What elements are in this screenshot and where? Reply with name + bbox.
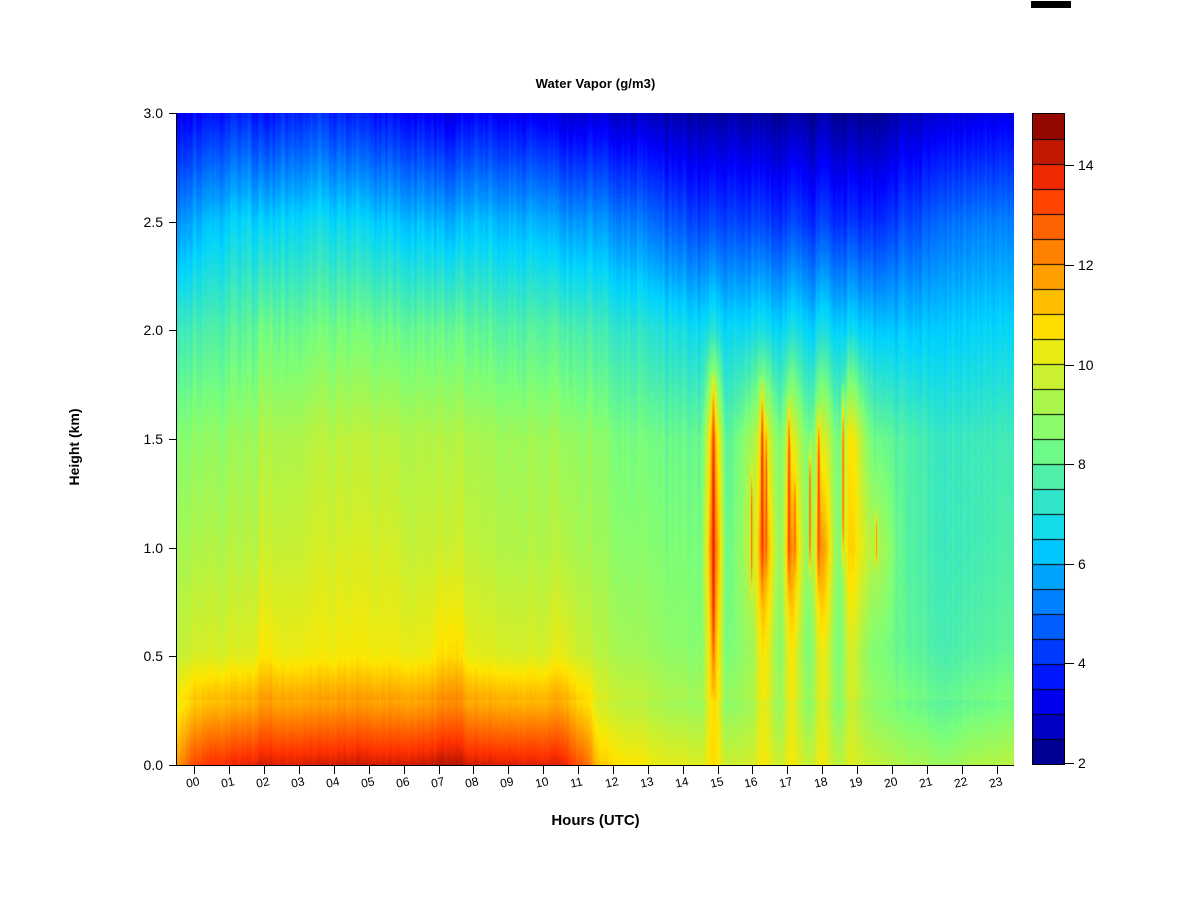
x-axis-tick-label: 09 [499,775,515,790]
colorbar-canvas [1033,114,1064,764]
y-axis-tick-mark [169,113,177,114]
x-axis-tick-mark [683,766,684,774]
colorbar-tick-mark [1065,663,1074,664]
x-axis-tick-mark [613,766,614,774]
y-axis-tick-mark [169,656,177,657]
colorbar-legend [1032,113,1065,765]
x-axis-tick-mark [369,766,370,774]
colorbar-tick-mark [1065,464,1074,465]
x-axis-tick-mark [229,766,230,774]
colorbar-tick-mark [1065,365,1074,366]
colorbar-tick-label: 2 [1078,756,1086,770]
x-axis-tick-label: 19 [848,775,864,790]
y-axis-tick-mark [169,765,177,766]
x-axis-tick-mark [648,766,649,774]
colorbar-tick-label: 10 [1078,358,1094,372]
x-axis-tick-label: 00 [185,775,201,790]
colorbar-tick-mark [1065,763,1074,764]
x-axis-tick-mark [857,766,858,774]
x-axis-tick-mark [299,766,300,774]
x-axis-tick-mark [752,766,753,774]
x-axis-tick-mark [439,766,440,774]
x-axis-tick-mark [404,766,405,774]
y-axis-tick-label: 0.0 [144,758,163,772]
colorbar-tick-mark [1065,265,1074,266]
heatmap-plot-panel [177,113,1014,765]
x-axis-tick-mark [962,766,963,774]
colorbar-tick-mark [1065,564,1074,565]
x-axis-tick-mark [543,766,544,774]
x-axis-tick-label: 06 [395,775,411,790]
x-axis-tick-mark [822,766,823,774]
x-axis-tick-mark [927,766,928,774]
x-axis-line [176,765,1014,766]
y-axis-tick-label: 3.0 [144,106,163,120]
y-axis-tick-mark [169,439,177,440]
y-axis-tick-label: 1.0 [144,541,163,555]
x-axis-tick-mark [194,766,195,774]
x-axis-tick-mark [264,766,265,774]
x-axis-tick-mark [997,766,998,774]
x-axis-tick-label: 07 [430,775,446,790]
x-axis-tick-label: 02 [255,775,271,790]
x-axis-tick-label: 08 [464,775,480,790]
x-axis-tick-label: 18 [813,775,829,790]
colorbar-tick-label: 14 [1078,158,1094,172]
colorbar-tick-label: 6 [1078,557,1086,571]
x-axis-tick-label: 03 [290,775,306,790]
x-axis-tick-mark [334,766,335,774]
x-axis-tick-label: 13 [639,775,655,790]
x-axis-tick-label: 20 [883,775,899,790]
x-axis-tick-label: 12 [604,775,620,790]
colorbar-tick-mark [1065,165,1074,166]
y-axis-tick-mark [169,330,177,331]
y-axis-tick-label: 2.5 [144,215,163,229]
x-axis-tick-mark [578,766,579,774]
x-axis-tick-label: 17 [778,775,794,790]
x-axis-tick-label: 21 [918,775,934,790]
x-axis-tick-mark [892,766,893,774]
x-axis-tick-mark [787,766,788,774]
top-right-black-bar-artifact [1031,1,1071,8]
x-axis-tick-mark [508,766,509,774]
colorbar-tick-label: 4 [1078,656,1086,670]
y-axis-tick-label: 2.0 [144,323,163,337]
y-axis-tick-label: 1.5 [144,432,163,446]
y-axis-tick-mark [169,222,177,223]
heatmap-canvas [177,113,1014,765]
colorbar-tick-label: 8 [1078,457,1086,471]
x-axis-tick-mark [473,766,474,774]
x-axis-tick-label: 05 [360,775,376,790]
x-axis-tick-label: 14 [674,775,690,790]
x-axis-tick-label: 23 [988,775,1004,790]
y-axis-tick-label: 0.5 [144,649,163,663]
colorbar-tick-label: 12 [1078,258,1094,272]
x-axis-tick-label: 01 [220,775,236,790]
x-axis-title: Hours (UTC) [177,812,1014,829]
x-axis-tick-label: 10 [534,775,550,790]
x-axis-tick-label: 04 [325,775,341,790]
y-axis-title: Height (km) [66,367,82,527]
x-axis-tick-label: 16 [743,775,759,790]
page-title: Water Vapor (g/m3) [177,76,1014,91]
x-axis-tick-label: 15 [709,775,725,790]
x-axis-tick-label: 11 [569,775,584,789]
y-axis-tick-mark [169,548,177,549]
x-axis-tick-mark [718,766,719,774]
x-axis-tick-label: 22 [953,775,969,790]
